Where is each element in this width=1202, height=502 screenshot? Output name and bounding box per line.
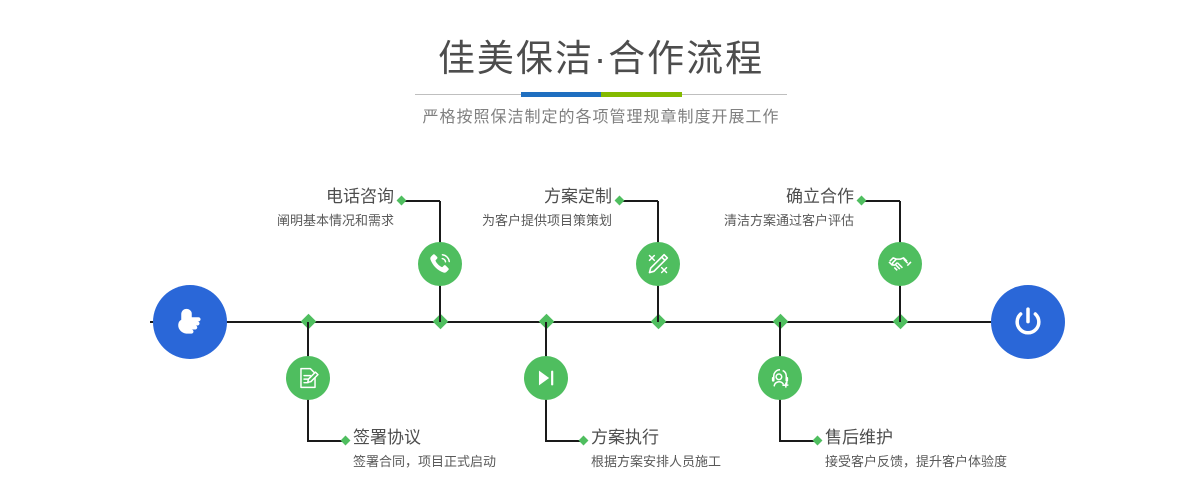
timeline-end-node[interactable] <box>991 285 1065 359</box>
step-title-4: 方案执行 <box>591 427 721 449</box>
process-timeline: 电话咨询 阐明基本情况和需求 签署协议 签署合同，项目正式启动 <box>0 0 1202 502</box>
step-desc-6: 清洁方案通过客户评估 <box>568 211 854 231</box>
connector-stem-6 <box>899 284 901 322</box>
connector-arm-2 <box>307 440 345 442</box>
step-desc-4: 根据方案安排人员施工 <box>591 452 721 472</box>
step-label-4: 方案执行 根据方案安排人员施工 <box>591 427 721 472</box>
step-title-6: 确立合作 <box>568 186 854 208</box>
step-icon-3[interactable] <box>636 242 680 286</box>
connector-stem-3 <box>657 284 659 322</box>
connector-riser-6 <box>899 201 901 243</box>
headset-support-icon <box>768 366 793 391</box>
connector-stem-1 <box>439 284 441 322</box>
pencil-design-icon <box>645 251 671 277</box>
connector-arm-4 <box>545 440 583 442</box>
phone-call-icon <box>427 251 453 277</box>
connector-riser-5 <box>779 397 781 442</box>
connector-stem-5 <box>779 322 781 358</box>
step-label-5: 售后维护 接受客户反馈，提升客户体验度 <box>825 427 1007 472</box>
timeline-axis <box>150 321 1052 323</box>
handshake-icon <box>887 251 913 277</box>
sign-document-icon <box>296 366 321 391</box>
label-marker-2 <box>341 436 351 446</box>
connector-riser-2 <box>307 397 309 442</box>
connector-stem-2 <box>307 322 309 358</box>
infographic-root: 佳美保洁·合作流程 严格按照保洁制定的各项管理规章制度开展工作 <box>0 0 1202 502</box>
connector-riser-4 <box>545 397 547 442</box>
label-marker-4 <box>579 436 589 446</box>
power-icon <box>1008 302 1048 342</box>
step-icon-1[interactable] <box>418 242 462 286</box>
label-marker-6 <box>857 196 867 206</box>
label-marker-5 <box>813 436 823 446</box>
pointing-hand-icon <box>169 301 211 343</box>
connector-arm-5 <box>779 440 817 442</box>
step-icon-2[interactable] <box>286 356 330 400</box>
play-execute-icon <box>534 366 559 391</box>
connector-stem-4 <box>545 322 547 358</box>
step-label-2: 签署协议 签署合同，项目正式启动 <box>353 427 496 472</box>
step-icon-6[interactable] <box>878 242 922 286</box>
timeline-start-node[interactable] <box>153 285 227 359</box>
step-title-2: 签署协议 <box>353 427 496 449</box>
step-icon-4[interactable] <box>524 356 568 400</box>
step-desc-2: 签署合同，项目正式启动 <box>353 452 496 472</box>
connector-arm-6 <box>862 200 900 202</box>
step-label-6: 确立合作 清洁方案通过客户评估 <box>568 186 854 231</box>
step-title-5: 售后维护 <box>825 427 1007 449</box>
step-icon-5[interactable] <box>758 356 802 400</box>
step-desc-5: 接受客户反馈，提升客户体验度 <box>825 452 1007 472</box>
